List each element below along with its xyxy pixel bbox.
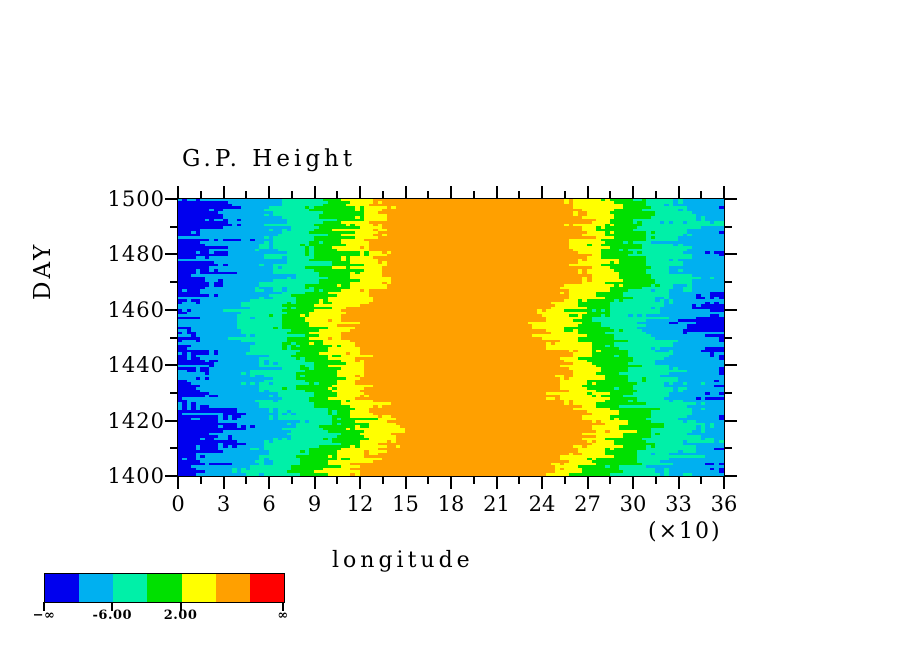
y-axis-tick-minor <box>724 226 732 228</box>
x-tick-label: 21 <box>483 492 510 516</box>
y-axis-tick-major <box>165 364 178 366</box>
x-axis-tick-major <box>223 186 225 199</box>
y-tick-label: 1420 <box>40 409 165 433</box>
x-axis-tick-minor <box>518 476 520 484</box>
colorbar-band <box>147 574 181 602</box>
x-axis-tick-minor <box>200 476 202 484</box>
x-axis-tick-minor <box>564 476 566 484</box>
x-axis-tick-major <box>541 476 543 489</box>
colorbar-tick-label: 2.00 <box>164 608 198 623</box>
x-axis-tick-minor <box>564 191 566 199</box>
x-axis-tick-major <box>450 476 452 489</box>
colorbar-tick-label: −∞ <box>33 608 56 623</box>
x-axis-tick-minor <box>291 191 293 199</box>
colorbar-tick-label: ∞ <box>277 608 288 623</box>
colorbar-band <box>216 574 250 602</box>
y-axis-tick-major <box>165 420 178 422</box>
x-axis-tick-minor <box>245 191 247 199</box>
x-axis-tick-minor <box>382 476 384 484</box>
y-axis-tick-minor <box>724 281 732 283</box>
x-axis-tick-minor <box>245 476 247 484</box>
x-axis-tick-major <box>268 476 270 489</box>
x-axis-tick-major <box>359 186 361 199</box>
x-axis-tick-minor <box>291 476 293 484</box>
colorbar-tick-label: -6.00 <box>93 608 133 623</box>
x-axis-tick-major <box>723 476 725 489</box>
colorbar-band <box>45 574 79 602</box>
x-tick-label: 15 <box>392 492 419 516</box>
y-axis-tick-major <box>724 364 737 366</box>
x-tick-label: 3 <box>217 492 230 516</box>
x-axis-tick-minor <box>609 191 611 199</box>
x-axis-tick-major <box>359 476 361 489</box>
y-axis-tick-major <box>724 309 737 311</box>
y-axis-tick-minor <box>170 337 178 339</box>
colorbar-band <box>113 574 147 602</box>
x-tick-label: 33 <box>665 492 692 516</box>
x-axis-tick-major <box>632 186 634 199</box>
x-axis-tick-major <box>678 186 680 199</box>
x-axis-tick-minor <box>336 476 338 484</box>
x-axis-tick-major <box>177 476 179 489</box>
x-axis-tick-minor <box>518 191 520 199</box>
y-axis-tick-major <box>165 475 178 477</box>
x-tick-label: 18 <box>438 492 465 516</box>
y-axis-tick-major <box>724 475 737 477</box>
x-axis-tick-minor <box>609 476 611 484</box>
y-axis-label: DAY <box>30 242 56 300</box>
x-axis-tick-minor <box>473 476 475 484</box>
x-axis-tick-minor <box>382 191 384 199</box>
y-tick-label: 1500 <box>40 187 165 211</box>
y-axis-tick-minor <box>170 281 178 283</box>
y-tick-label: 1480 <box>40 242 165 266</box>
x-axis-multiplier-label: (×10) <box>648 519 722 544</box>
x-tick-label: 6 <box>262 492 275 516</box>
x-tick-label: 0 <box>171 492 184 516</box>
page-title: G.P. Height <box>182 146 356 172</box>
x-axis-tick-major <box>496 476 498 489</box>
x-axis-tick-minor <box>700 476 702 484</box>
y-axis-tick-major <box>724 253 737 255</box>
x-tick-label: 12 <box>347 492 374 516</box>
x-axis-tick-minor <box>473 191 475 199</box>
y-axis-tick-major <box>165 198 178 200</box>
x-axis-tick-major <box>541 186 543 199</box>
colorbar-band <box>182 574 216 602</box>
x-axis-tick-major <box>587 476 589 489</box>
x-axis-tick-major <box>496 186 498 199</box>
y-axis-tick-major <box>165 253 178 255</box>
heatmap-plot-area <box>178 199 724 476</box>
x-axis-tick-major <box>268 186 270 199</box>
x-axis-tick-minor <box>200 191 202 199</box>
x-axis-tick-major <box>314 186 316 199</box>
y-axis-tick-minor <box>724 447 732 449</box>
x-axis-tick-major <box>450 186 452 199</box>
y-axis-tick-major <box>724 420 737 422</box>
y-axis-tick-minor <box>170 226 178 228</box>
x-axis-tick-minor <box>655 191 657 199</box>
x-axis-label: longitude <box>332 548 474 573</box>
x-axis-tick-major <box>223 476 225 489</box>
x-axis-tick-minor <box>655 476 657 484</box>
colorbar-band <box>79 574 113 602</box>
x-axis-tick-minor <box>336 191 338 199</box>
x-axis-tick-major <box>678 476 680 489</box>
y-axis-tick-minor <box>724 337 732 339</box>
y-axis-tick-major <box>724 198 737 200</box>
y-axis-tick-minor <box>724 392 732 394</box>
x-tick-label: 30 <box>620 492 647 516</box>
x-tick-label: 24 <box>529 492 556 516</box>
colorbar <box>44 573 285 603</box>
x-axis-tick-major <box>405 476 407 489</box>
x-axis-tick-minor <box>700 191 702 199</box>
x-tick-label: 36 <box>711 492 738 516</box>
x-axis-tick-major <box>587 186 589 199</box>
y-axis-tick-major <box>165 309 178 311</box>
y-tick-label: 1460 <box>40 298 165 322</box>
y-axis-tick-minor <box>170 392 178 394</box>
x-axis-tick-minor <box>427 191 429 199</box>
x-axis-tick-major <box>314 476 316 489</box>
x-axis-tick-minor <box>427 476 429 484</box>
heatmap-data-canvas <box>178 199 724 476</box>
y-axis-tick-minor <box>170 447 178 449</box>
figure-canvas: G.P. Height 0369121518212427303336 14001… <box>0 0 904 654</box>
x-axis-tick-major <box>632 476 634 489</box>
x-tick-label: 27 <box>574 492 601 516</box>
x-axis-tick-major <box>405 186 407 199</box>
x-tick-label: 9 <box>308 492 321 516</box>
colorbar-band <box>250 574 284 602</box>
y-tick-label: 1400 <box>40 464 165 488</box>
y-tick-label: 1440 <box>40 353 165 377</box>
